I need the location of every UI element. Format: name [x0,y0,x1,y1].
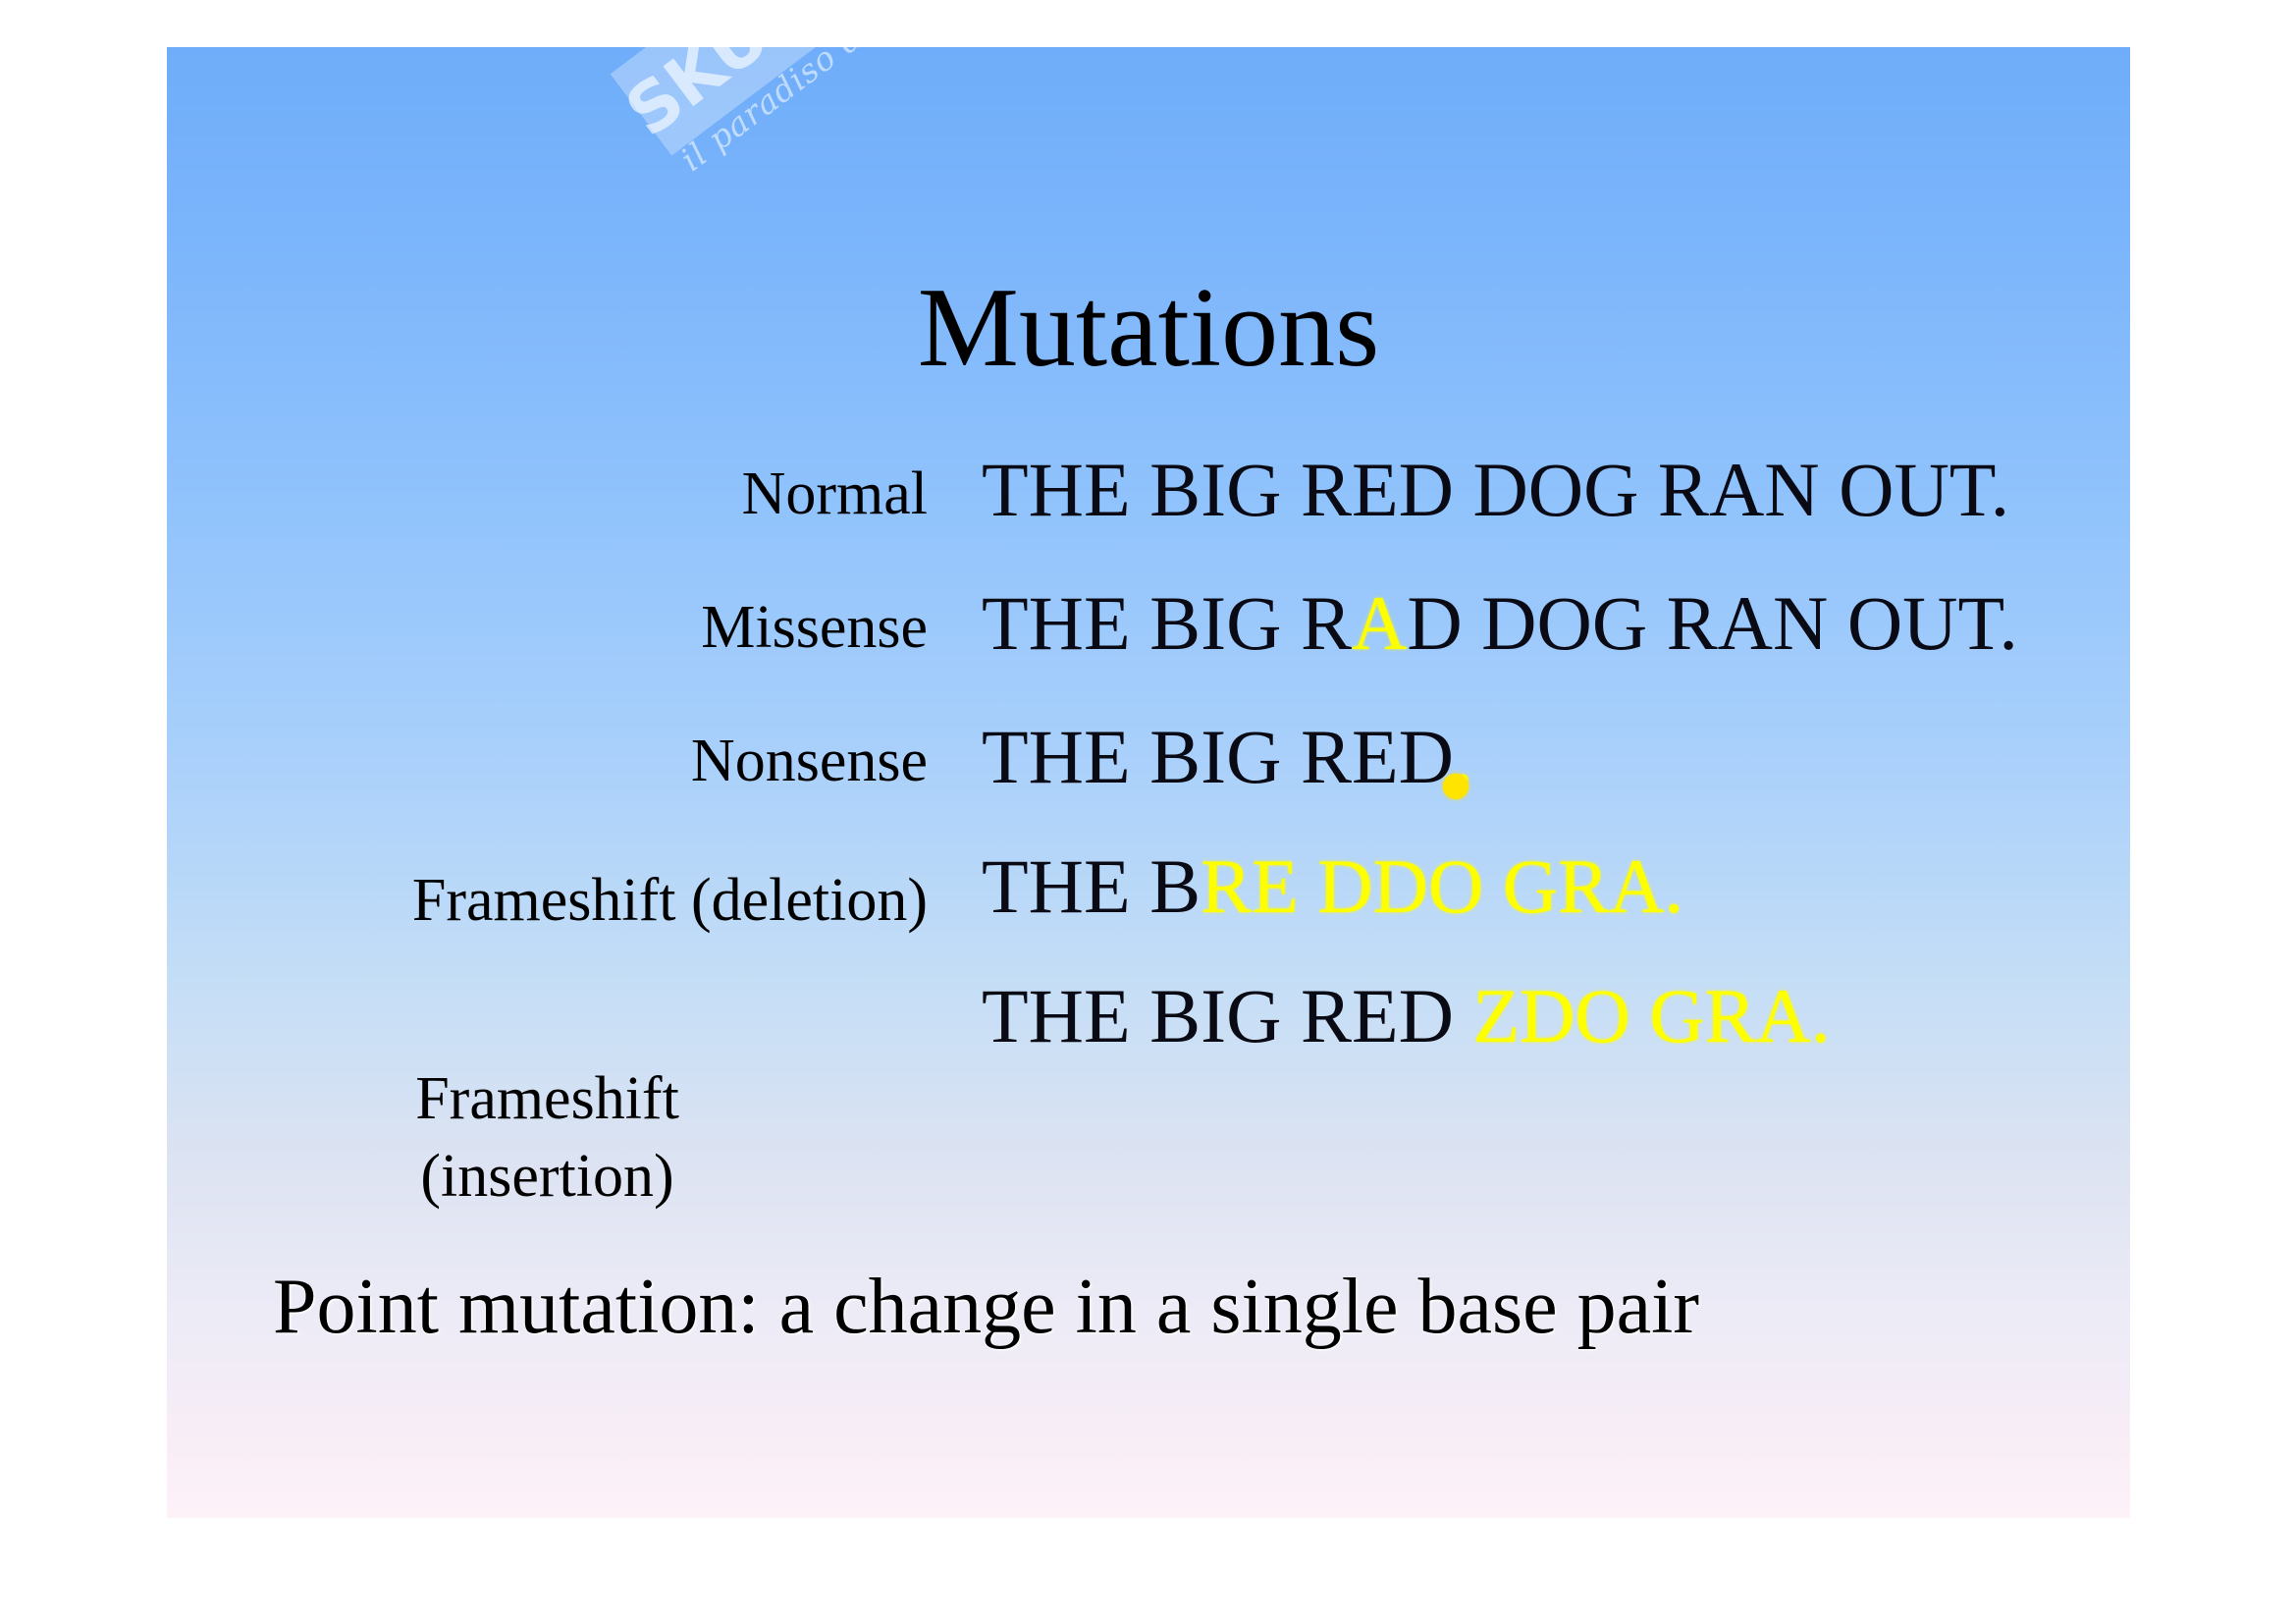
watermark-brand: SKUOLA.net [614,47,1024,151]
row-sequence-nonsense: THE BIG RED. [982,719,2130,795]
row-label-line1: Frameshift [167,1060,928,1138]
watermark-tagline: il paradiso dello studente [673,47,1050,179]
sequence-mutated-frame: ZDO GRA. [1472,973,1830,1058]
sequence-prefix: THE B [982,843,1201,929]
sequence-mutated-base: A [1352,580,1407,666]
sequence-mutated-frame: RE DDO GRA. [1201,843,1683,929]
sequence-prefix: THE BIG R [982,580,1352,666]
stop-codon-dot-icon [1443,774,1468,799]
watermark-brand-main: SKUOLA [612,47,905,152]
sequence-prefix: THE BIG RED [982,973,1472,1058]
point-mutation-statement: Point mutation: a change in a single bas… [273,1260,2069,1354]
watermark-plate [611,47,948,155]
row-label-frameshift-insertion: Frameshift (insertion) [167,1060,928,1217]
row-label-nonsense: Nonsense [167,730,928,792]
sequence-suffix: D DOG RAN OUT. [1407,580,2018,666]
row-sequence-frameshift-deletion: THE BRE DDO GRA. [982,848,2130,925]
sequence-prefix: THE BIG RED [982,714,1454,799]
row-label-line2: (insertion) [167,1138,928,1216]
slide-canvas: SKUOLA.net il paradiso dello studente Mu… [167,47,2130,1518]
row-label-frameshift-deletion: Frameshift (deletion) [167,870,928,932]
row-label-missense: Missense [167,597,928,659]
row-sequence-frameshift-insertion: THE BIG RED ZDO GRA. [982,978,2130,1055]
row-sequence-normal: THE BIG RED DOG RAN OUT. [982,452,2130,528]
row-label-normal: Normal [167,463,928,525]
page-title: Mutations [167,271,2130,385]
row-sequence-missense: THE BIG RAD DOG RAN OUT. [982,585,2130,662]
sequence-prefix: THE BIG RED DOG RAN OUT. [982,447,2009,532]
